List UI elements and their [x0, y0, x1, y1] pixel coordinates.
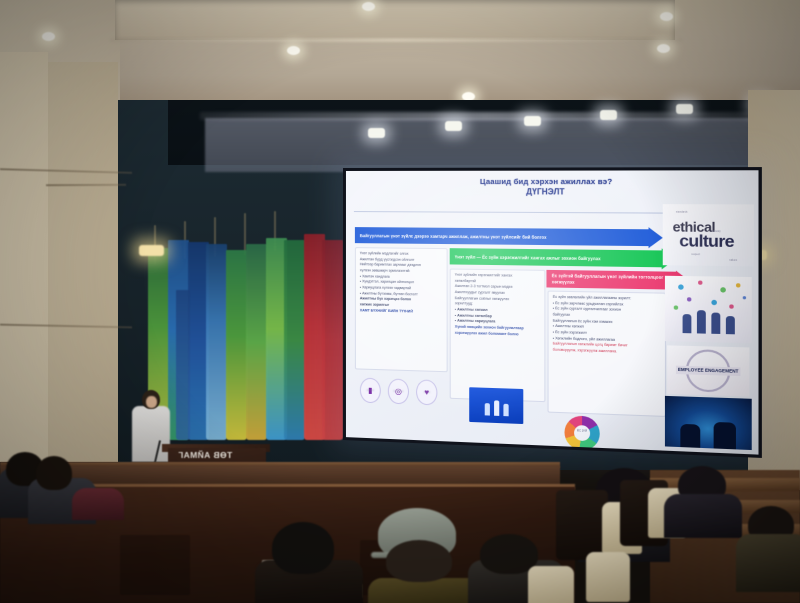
heart-icon: ♥ СОЁЛ: [416, 379, 437, 405]
column-line: ХАМТ БҮХНИЙГ БИЙН ТҮҮНИЙ: [360, 308, 443, 315]
network-node: [678, 284, 684, 289]
flag: [226, 250, 247, 440]
stage-downlight: [600, 110, 617, 120]
projection-screen: Цаашид бид хэрхэн ажиллах вэ? ДҮГНЭЛТ Ба…: [343, 167, 762, 458]
person-silhouette: [714, 422, 736, 449]
wall-sconce-light: [139, 245, 164, 256]
person-silhouette: [726, 316, 735, 334]
arrow-banner-green: Үнэт зүйл — Ёс зүйн хэрэгжилтийг хангах …: [450, 248, 662, 267]
stage-downlight: [445, 121, 462, 131]
slide-column-1: Үнэт зүйлийн мэдлэгийг олгох Ажилтан бүр…: [355, 247, 448, 372]
flag: [322, 240, 343, 440]
stage-downlight: [676, 104, 693, 114]
left-wall-panel-front: [0, 52, 48, 462]
downlight: [657, 44, 670, 53]
arrow-banner-blue: Байгууллагын үнэт зүйлс дээрээ хамтарч а…: [355, 227, 649, 246]
arrow-banner-green-label: Үнэт зүйл — Ёс зүйн хэрэгжилтийг хангах …: [455, 254, 601, 261]
figure-silhouette: [484, 403, 489, 415]
chair-headrest: [528, 566, 574, 603]
flag: [176, 290, 190, 440]
desk-panel: [120, 535, 190, 595]
network-node: [720, 287, 726, 292]
network-node: [743, 296, 746, 299]
network-node: [698, 280, 702, 284]
ceiling-soffit: [115, 0, 675, 40]
target-icon: ◎ ЗОРИЛГО: [388, 378, 409, 404]
flag: [284, 240, 305, 440]
wordcloud-tiny-word: values: [729, 259, 737, 262]
presenter-body: [132, 406, 170, 462]
wordcloud-tiny-word: respect: [691, 253, 700, 256]
presenter-face: [146, 396, 157, 408]
teamwork-dark-photo: [665, 396, 752, 450]
wordcloud-tiny-word: honesty: [711, 230, 720, 233]
network-node: [736, 283, 740, 287]
donut-chart: [564, 415, 599, 451]
slide-title-line1: Цаашид бид хэрхэн ажиллах вэ?: [353, 177, 751, 188]
wall-groove: [46, 184, 126, 186]
stage-recess-inner: [205, 118, 765, 172]
slide-divider: [354, 211, 667, 214]
chair-back: [556, 490, 608, 560]
downlight: [362, 2, 375, 11]
downlight: [287, 46, 300, 55]
column-line: хэрэгжүүлэх ажил боломжит болно: [455, 330, 540, 338]
wordcloud-ethical-culture: standards ethical honesty culture respec…: [663, 204, 754, 266]
wordcloud-word-culture: culture: [679, 232, 734, 252]
person-silhouette: [680, 424, 700, 448]
blue-people-image: [469, 387, 523, 424]
figure-silhouette: [503, 404, 508, 417]
audience-member: [736, 534, 800, 592]
people-network-image: [665, 276, 752, 343]
podium-label: ТӨВ АЙМАГ: [178, 450, 232, 460]
audience-member: [72, 488, 124, 520]
slide-column-2: Үнэт зүйлийн хэрэгжилтийг хангах хөтөлбө…: [450, 269, 546, 403]
person-silhouette: [697, 310, 706, 334]
arrow-banner-pink-label: Ёс зүйтэй байгууллагын үнэт зүйлийн тогт…: [552, 273, 676, 286]
audience-head: [36, 456, 72, 490]
slide-title: Цаашид бид хэрхэн ажиллах вэ? ДҮГНЭЛТ: [353, 177, 751, 199]
downlight: [660, 12, 673, 21]
network-node: [729, 304, 733, 308]
network-node: [674, 305, 678, 309]
arrow-banner-pink: Ёс зүйтэй байгууллагын үнэт зүйлийн тогт…: [546, 270, 675, 290]
slide-column-3: Ёс зүйн зөвлөлийн үйл ажиллагааны зорилт…: [548, 291, 667, 417]
slide-title-line2: ДҮГНЭЛТ: [353, 187, 751, 199]
value-icon-row: ▮ ИТГЭЛ ◎ ЗОРИЛГО ♥ СОЁЛ: [360, 378, 438, 406]
slide-content: Цаашид бид хэрхэн ажиллах вэ? ДҮГНЭЛТ Ба…: [346, 170, 759, 454]
flag: [246, 244, 267, 440]
employee-engagement-badge: EMPLOYEE ENGAGEMENT: [667, 345, 749, 396]
chair-headrest: [586, 552, 630, 602]
person-silhouette: [683, 314, 692, 333]
ceiling-edge-highlight: [110, 38, 682, 42]
conference-hall-photo: Цаашид бид хэрхэн ажиллах вэ? ДҮГНЭЛТ Ба…: [0, 0, 800, 603]
figure-silhouette: [494, 400, 499, 416]
audience-head: [386, 540, 452, 582]
audience-head: [272, 522, 334, 574]
network-node: [687, 297, 691, 301]
stage-downlight: [524, 116, 541, 126]
projected-slide: Цаашид бид хэрхэн ажиллах вэ? ДҮГНЭЛТ Ба…: [346, 170, 759, 454]
arrow-banner-blue-label: Байгууллагын үнэт зүйлс дээрээ хамтарч а…: [360, 233, 547, 240]
shield-icon: ▮ ИТГЭЛ: [360, 378, 381, 404]
flag: [206, 244, 227, 440]
person-silhouette: [711, 313, 720, 334]
downlight: [42, 32, 55, 41]
wordcloud-tiny-word: standards: [676, 211, 688, 214]
network-node: [711, 300, 717, 305]
stage-downlight: [368, 128, 385, 138]
audience-member: [664, 494, 742, 538]
